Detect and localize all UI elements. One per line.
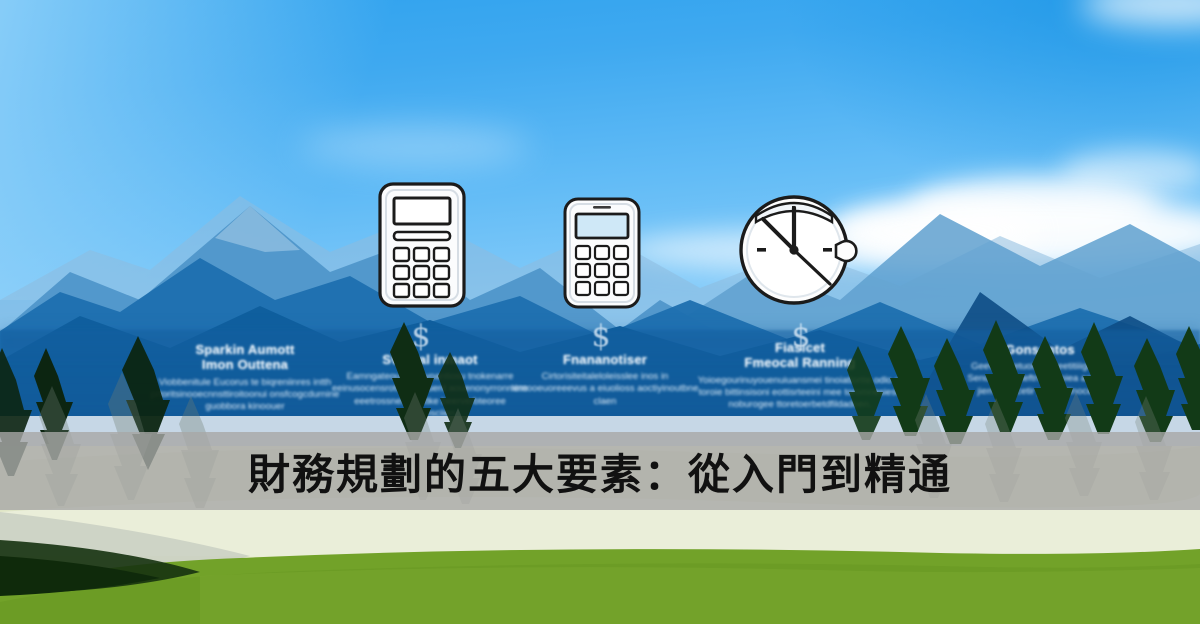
page-title: 財務規劃的五大要素：從入門到精通 bbox=[0, 432, 1200, 510]
pine-tree-group bbox=[0, 0, 1200, 624]
thumbnail-canvas: Sparkin Aumott Imon Outtena Viobbenitule… bbox=[0, 0, 1200, 624]
